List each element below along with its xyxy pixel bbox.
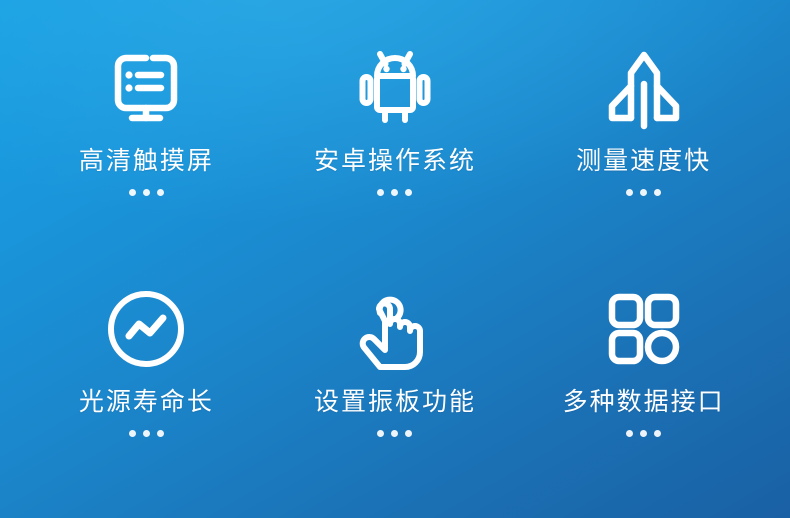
- feature-item-android-os: 安卓操作系统: [271, 40, 520, 255]
- feature-label: 光源寿命长: [79, 389, 214, 417]
- feature-dots: [129, 430, 164, 437]
- feature-label: 设置振板功能: [314, 389, 476, 417]
- feature-banner: 高清触摸屏: [0, 0, 790, 518]
- feature-item-fast-measurement: 测量速度快: [519, 40, 768, 255]
- feature-dots: [626, 430, 661, 437]
- monitor-list-icon: [98, 40, 194, 136]
- feature-item-multiple-data-interfaces: 多种数据接口: [519, 255, 768, 470]
- android-robot-icon: [347, 40, 443, 136]
- feature-dots: [129, 189, 164, 196]
- rocket-icon: [596, 40, 692, 136]
- feature-label: 测量速度快: [576, 148, 711, 176]
- feature-dots: [377, 189, 412, 196]
- feature-item-vibration-plate-setting: 设置振板功能: [271, 255, 520, 470]
- feature-dots: [626, 189, 661, 196]
- feature-item-hd-touchscreen: 高清触摸屏: [22, 40, 271, 255]
- feature-label: 安卓操作系统: [314, 148, 476, 176]
- grid-squares-icon: [596, 281, 692, 377]
- feature-label: 高清触摸屏: [79, 148, 214, 176]
- feature-grid: 高清触摸屏: [0, 0, 790, 518]
- feature-item-long-lamp-life: 光源寿命长: [22, 255, 271, 470]
- feature-label: 多种数据接口: [563, 389, 725, 417]
- hand-tap-icon: [347, 281, 443, 377]
- feature-dots: [377, 430, 412, 437]
- circle-zigzag-icon: [98, 281, 194, 377]
